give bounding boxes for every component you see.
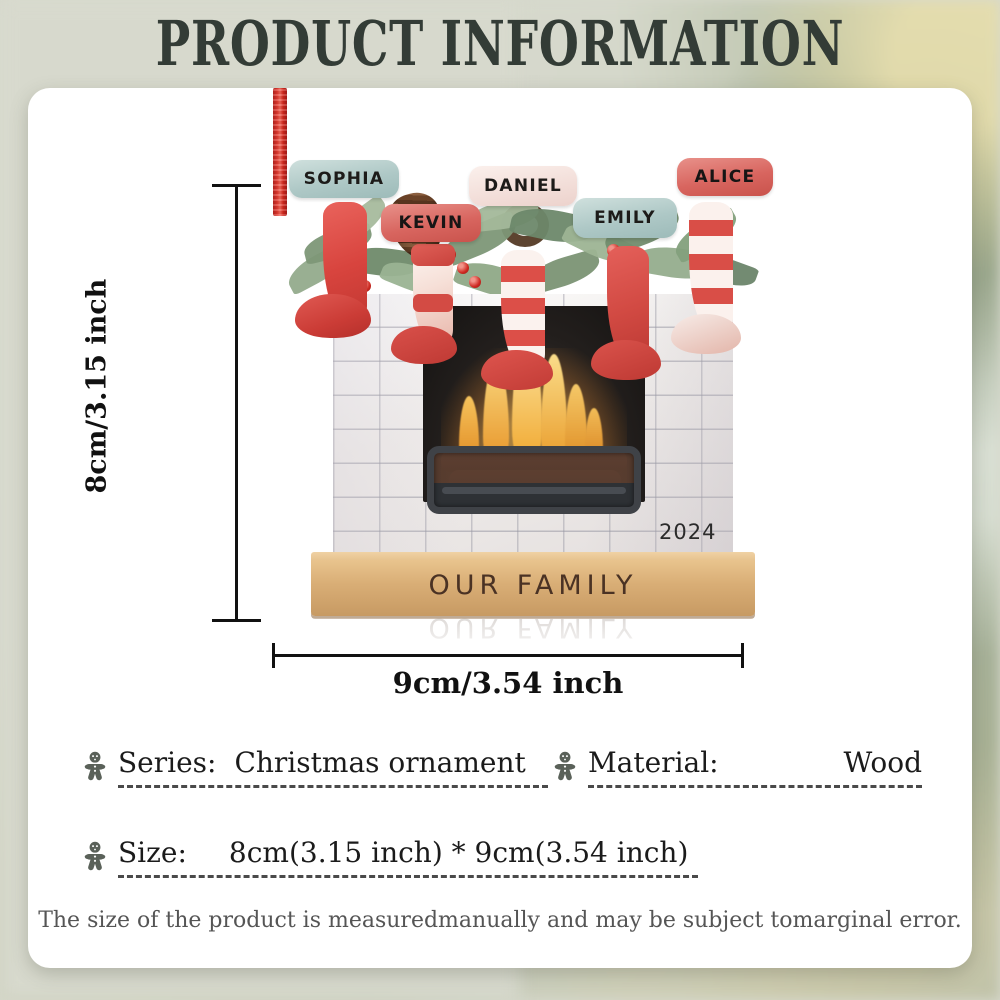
grate-bar [442,487,626,494]
ornament-year-label: 2024 [659,520,716,544]
measurement-disclaimer: The size of the product is measuredmanua… [28,908,972,933]
stocking-nametag: DANIEL [469,166,577,206]
spec-size-field: Size: 8cm(3.15 inch) * 9cm(3.54 inch) [118,836,698,878]
reflection-fade [311,618,755,670]
spec-series-field: Series: Christmas ornament [118,746,548,788]
dimension-horizontal-cap-right [741,643,744,668]
stocking-name-label: DANIEL [484,176,562,196]
ornament-illustration: SOPHIA KEVIN DANIEL EMILY [273,98,773,658]
fireplace-grate [427,446,641,514]
stocking-cuff [411,244,455,266]
stocking-nametag: SOPHIA [289,160,399,198]
spec-row-material: Material: Wood [548,736,922,788]
dimension-vertical-line [235,184,238,622]
gingerbread-man-icon [78,750,112,784]
gingerbread-man-icon [78,840,112,874]
page-title: PRODUCT INFORMATION [130,8,870,80]
stocking-name-label: EMILY [594,208,656,228]
dimension-height-label: 8cm/3.15 inch [82,294,113,494]
stocking-nametag: KEVIN [381,204,481,242]
spec-row-series: Series: Christmas ornament [78,736,548,788]
stocking-leg [689,202,733,332]
spec-series-label: Series: [118,746,216,779]
ornament-reflection: OUR FAMILY [311,618,755,670]
stocking-name-label: SOPHIA [304,169,385,189]
stocking-nametag: EMILY [573,198,677,238]
stocking-stripe [413,294,453,312]
spec-material-value: Wood [843,746,922,779]
spec-row-size: Size: 8cm(3.15 inch) * 9cm(3.54 inch) [78,826,698,878]
stocking-foot [391,326,457,364]
spec-size-label: Size: [118,836,187,869]
stocking-name-label: KEVIN [399,213,464,233]
spec-material-label: Material: [588,746,719,779]
mantel-family-text: OUR FAMILY [311,570,755,601]
stocking-foot [295,294,371,338]
stocking-foot [481,350,553,390]
holly-berry [457,262,469,274]
holly-berry [469,276,481,288]
dimension-horizontal-line [272,654,744,657]
spec-top-row: Series: Christmas ornament [78,736,922,788]
stocking-foot [591,340,661,380]
dimension-width-label: 9cm/3.54 inch [272,666,744,700]
gingerbread-man-icon [548,750,582,784]
dimension-vertical-cap-bottom [212,619,261,622]
stocking-nametag: ALICE [677,158,773,196]
stocking-name-label: ALICE [695,167,756,187]
product-info-card: 8cm/3.15 inch [28,88,972,968]
stocking-foot [671,314,741,354]
spec-series-value: Christmas ornament [234,746,525,779]
specifications: Series: Christmas ornament [78,736,922,878]
spec-size-value: 8cm(3.15 inch) * 9cm(3.54 inch) [229,836,688,869]
spec-material-field: Material: Wood [588,746,922,788]
